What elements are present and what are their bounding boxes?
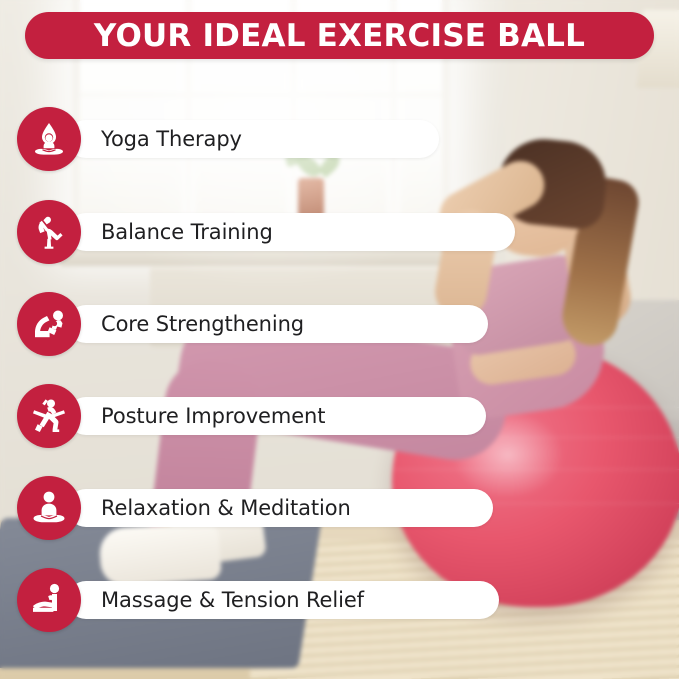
feature-row-massage-tension-relief[interactable]: Massage & Tension Relief	[17, 568, 499, 632]
feature-label: Massage & Tension Relief	[101, 588, 364, 612]
yoga-lotus-arms-up-icon	[17, 107, 81, 171]
feature-label: Yoga Therapy	[101, 127, 242, 151]
feature-label: Relaxation & Meditation	[101, 496, 351, 520]
feature-pill-massage-tension-relief[interactable]: Massage & Tension Relief	[67, 581, 499, 619]
feature-pill-yoga-therapy[interactable]: Yoga Therapy	[67, 120, 439, 158]
meditation-lotus-icon	[17, 476, 81, 540]
feature-label: Balance Training	[101, 220, 273, 244]
product-feature-poster: YOUR IDEAL EXERCISE BALL Yoga Therapy	[0, 0, 679, 679]
feature-pill-balance-training[interactable]: Balance Training	[67, 213, 515, 251]
massage-table-icon	[17, 568, 81, 632]
page-title: YOUR IDEAL EXERCISE BALL	[94, 18, 585, 54]
feature-row-core-strengthening[interactable]: Core Strengthening	[17, 292, 488, 356]
feature-row-relaxation-meditation[interactable]: Relaxation & Meditation	[17, 476, 493, 540]
posture-warrior-pose-icon	[17, 384, 81, 448]
feature-pill-relaxation-meditation[interactable]: Relaxation & Meditation	[67, 489, 493, 527]
feature-pill-posture-improvement[interactable]: Posture Improvement	[67, 397, 486, 435]
balance-tree-pose-icon	[17, 200, 81, 264]
feature-pill-core-strengthening[interactable]: Core Strengthening	[67, 305, 488, 343]
feature-row-posture-improvement[interactable]: Posture Improvement	[17, 384, 486, 448]
feature-row-balance-training[interactable]: Balance Training	[17, 200, 515, 264]
ball-highlight-ring	[392, 469, 679, 470]
window-mullion-horizontal	[80, 92, 442, 98]
feature-row-yoga-therapy[interactable]: Yoga Therapy	[17, 107, 439, 171]
core-crunch-icon	[17, 292, 81, 356]
feature-label: Core Strengthening	[101, 312, 304, 336]
feature-label: Posture Improvement	[101, 404, 325, 428]
header-banner: YOUR IDEAL EXERCISE BALL	[25, 12, 654, 59]
